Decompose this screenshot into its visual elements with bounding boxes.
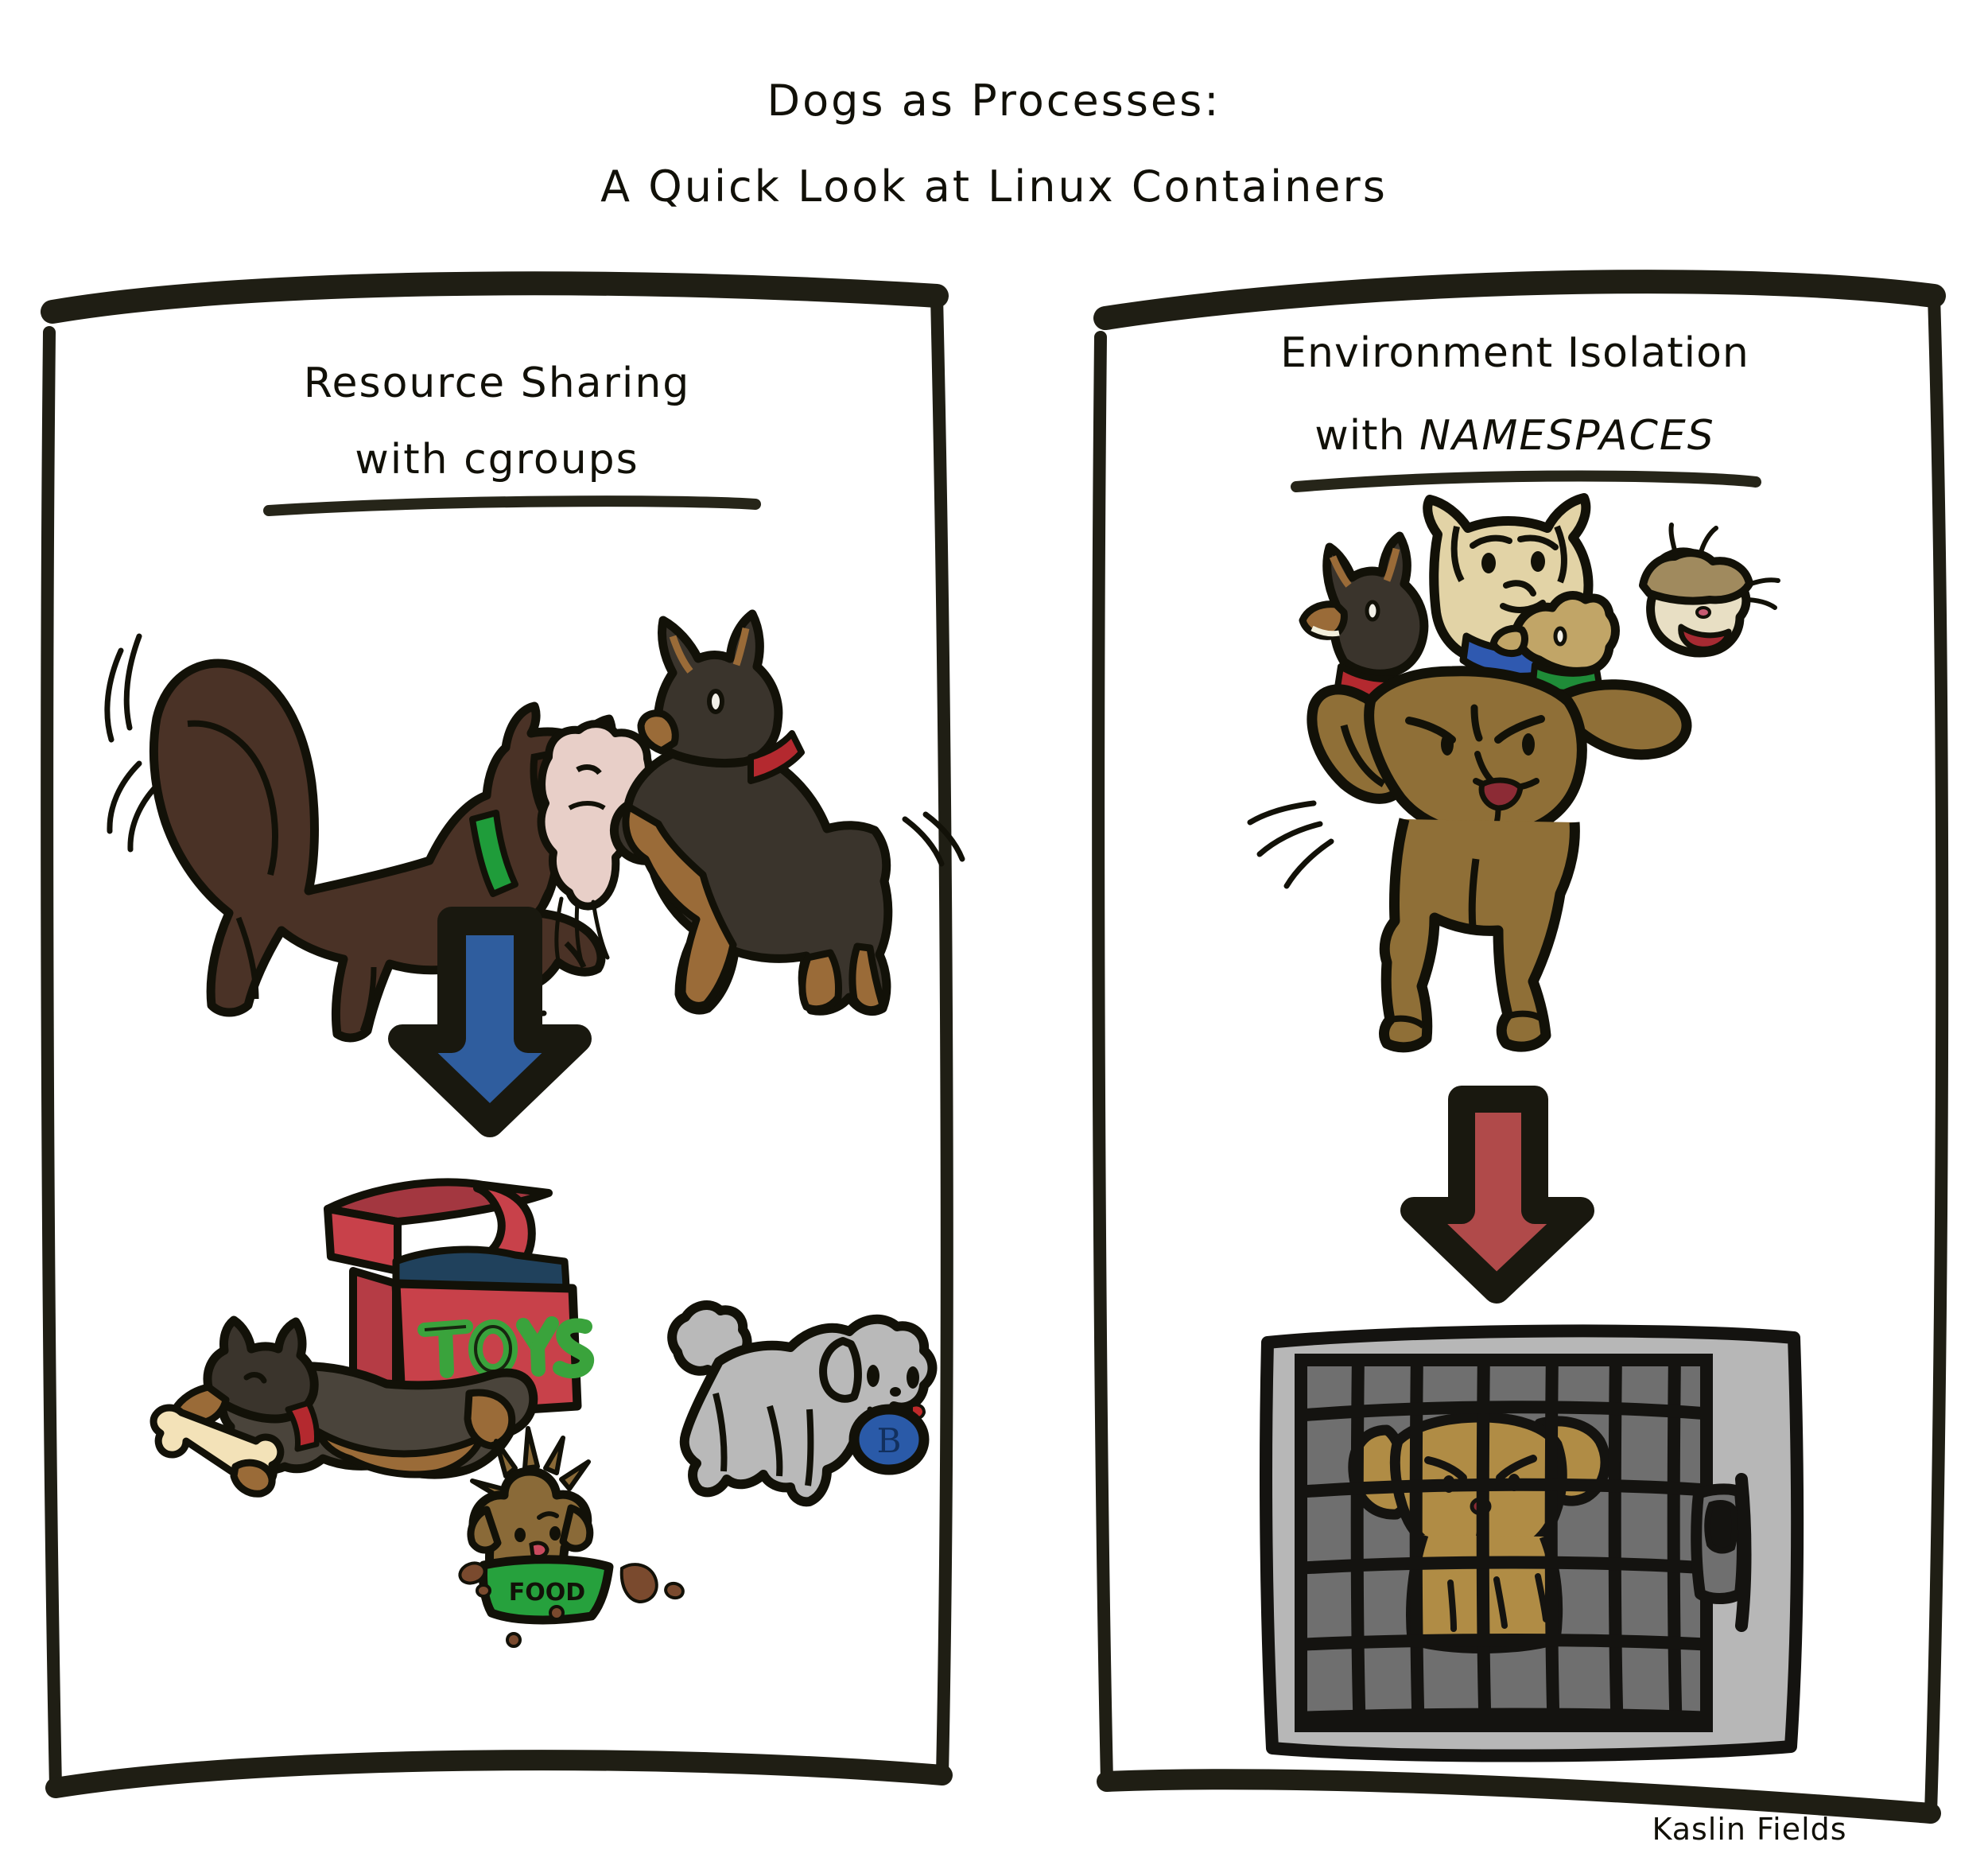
- food-bowl-label: FOOD: [509, 1579, 585, 1607]
- ball: B: [854, 1409, 924, 1470]
- left-panel-heading-line-2: with cgroups: [48, 436, 946, 484]
- ball-letter: B: [877, 1421, 902, 1460]
- right-panel-heading-line-2: with NAMESPACES: [1089, 412, 1940, 460]
- comic-canvas: FOOD: [0, 0, 1988, 1869]
- crowd-of-dog-heads-scene: [1250, 498, 1778, 1047]
- red-down-arrow: [1414, 1099, 1581, 1290]
- artist-credit: Kaslin Fields: [1574, 1812, 1924, 1847]
- right-panel-heading-line-1: Environment Isolation: [1089, 329, 1940, 377]
- doberman: [614, 614, 887, 1012]
- left-panel-heading-line-1: Resource Sharing: [48, 359, 946, 407]
- left-heading-underline: [269, 501, 755, 511]
- annoyed-brown-dog: [1250, 671, 1687, 1047]
- right-heading-namespaces: NAMESPACES: [1419, 412, 1715, 460]
- comic-artwork: FOOD: [0, 0, 1988, 1869]
- comic-title-line-2: A Quick Look at Linux Containers: [0, 161, 1988, 212]
- crate-scene: [1266, 1331, 1797, 1755]
- right-heading-prefix: with: [1314, 412, 1419, 460]
- shared-resources-scene: FOOD: [153, 1183, 932, 1646]
- shaggy-dog-head: [1643, 525, 1778, 653]
- comic-title-line-1: Dogs as Processes:: [0, 76, 1988, 126]
- right-heading-underline: [1296, 476, 1756, 488]
